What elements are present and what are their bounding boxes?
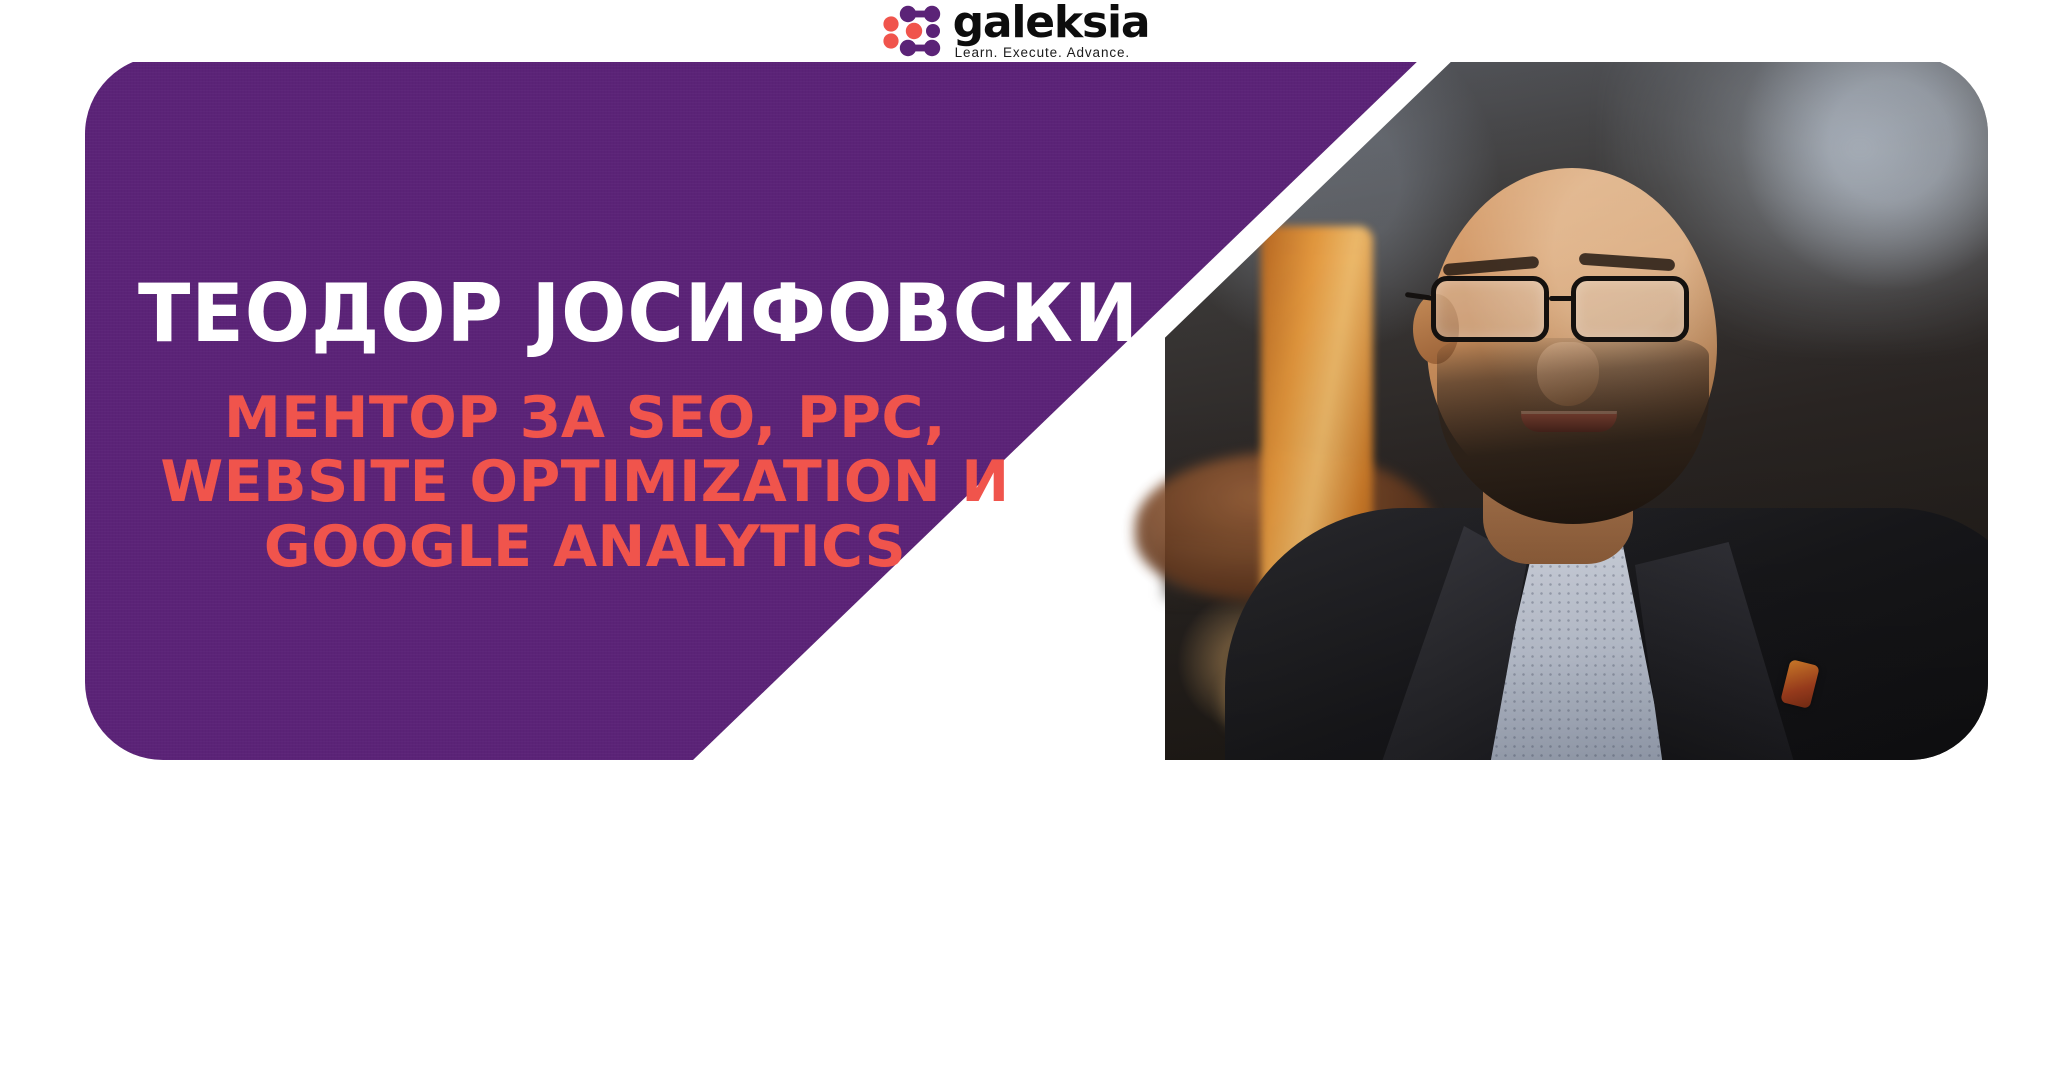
- galeksia-nodes-icon: [883, 5, 941, 57]
- logo-bar: galeksia Learn. Execute. Advance.: [0, 0, 2048, 62]
- logo-tagline-text: Learn. Execute. Advance.: [955, 46, 1130, 60]
- logo-wordmark: galeksia Learn. Execute. Advance.: [953, 3, 1150, 60]
- galeksia-logo[interactable]: galeksia Learn. Execute. Advance.: [883, 3, 1150, 60]
- eyeglasses-icon: [1413, 272, 1713, 350]
- glasses-lens-right: [1571, 276, 1689, 342]
- glasses-lens-left: [1431, 276, 1549, 342]
- mouth: [1521, 414, 1617, 432]
- hero-card: ТЕОДОР ЈОСИФОВСКИ МЕНТОР ЗА SEO, PPC, WE…: [85, 56, 1988, 760]
- logo-name-text: galeksia: [953, 3, 1150, 43]
- nose: [1537, 342, 1599, 406]
- promo-poster: galeksia Learn. Execute. Advance.: [0, 0, 2048, 1075]
- glasses-bridge: [1549, 296, 1573, 301]
